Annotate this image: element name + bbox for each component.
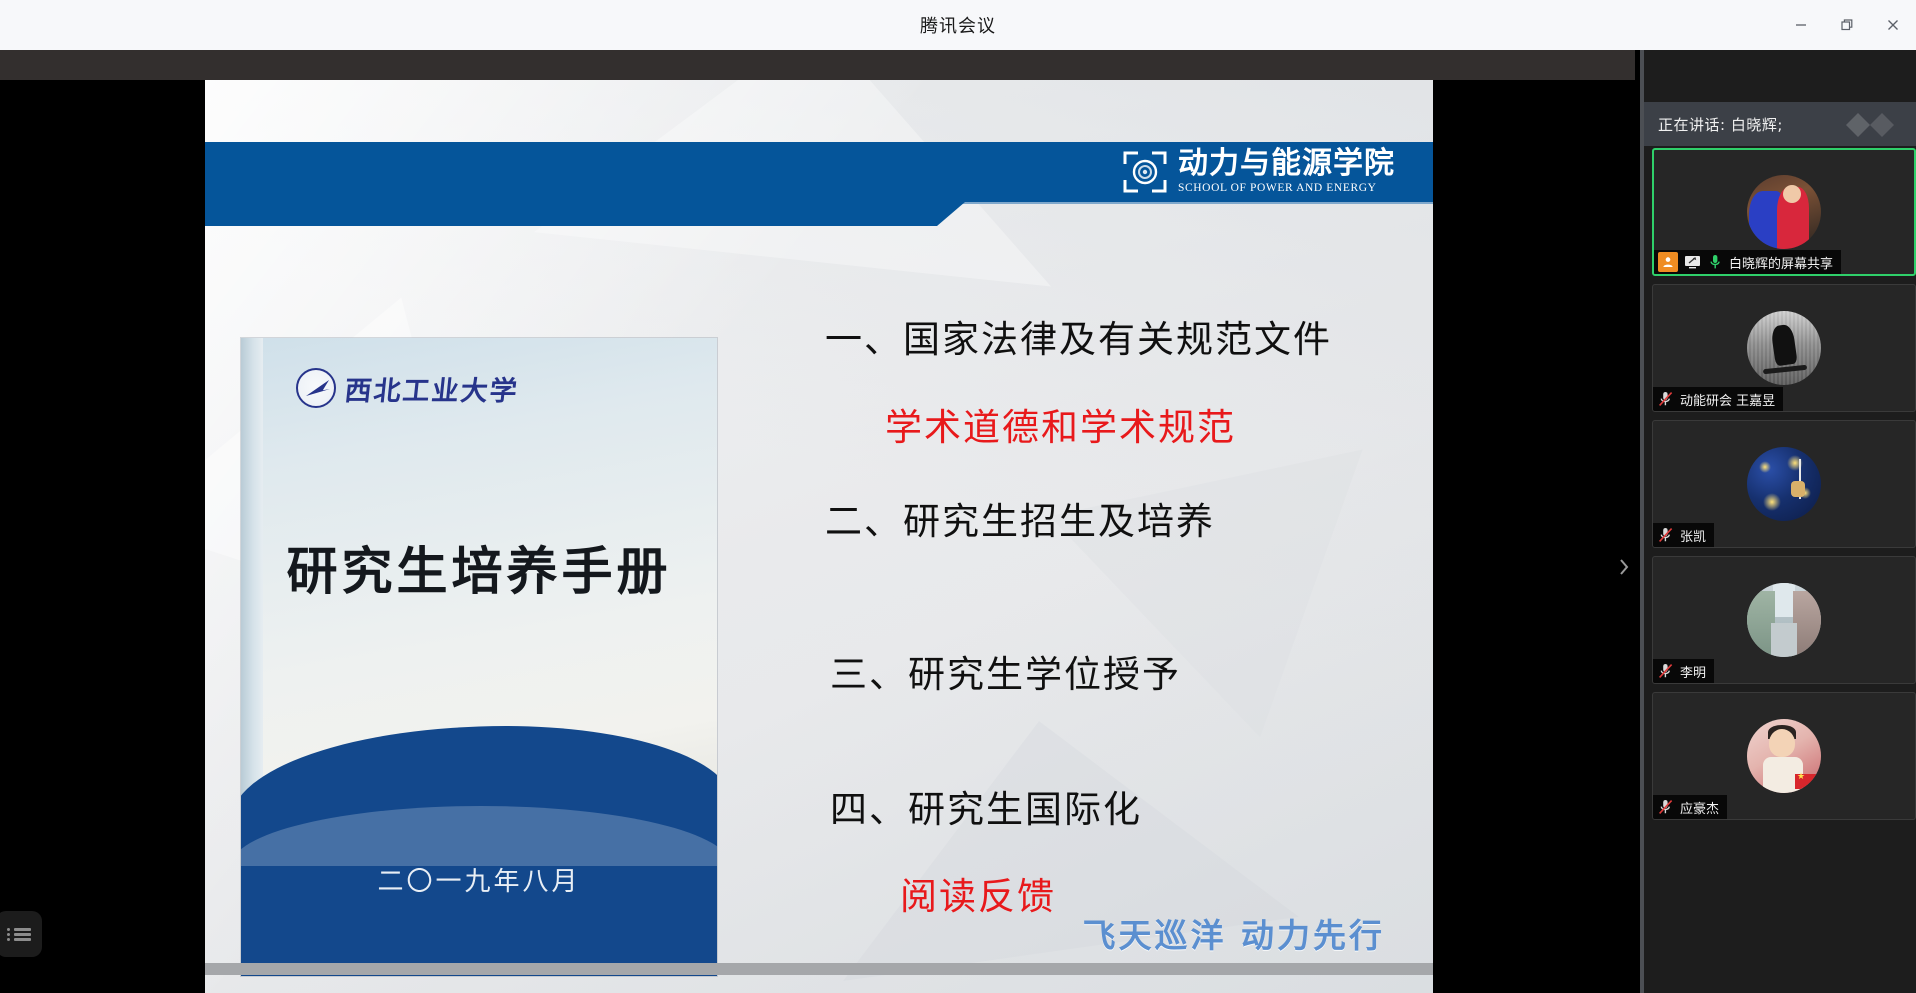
- university-name: 西北工业大学: [343, 369, 521, 408]
- outline-item: 一、国家法律及有关规范文件: [825, 320, 1332, 361]
- avatar: [1747, 175, 1821, 249]
- university-seal-icon: [296, 368, 336, 408]
- participant-label: 白晓辉的屏幕共享: [1654, 250, 1841, 274]
- microphone-muted-icon: [1657, 798, 1675, 816]
- outline-item: 学术道德和学术规范: [885, 408, 1236, 449]
- outline-item: 二、研究生招生及培养: [825, 502, 1215, 543]
- participant-label: 张凯: [1653, 523, 1714, 547]
- restore-button[interactable]: [1824, 0, 1870, 50]
- participants-panel: 正在讲话: 白晓辉;: [1640, 50, 1916, 993]
- presentation-slide: 动力与能源学院 SCHOOL OF POWER AND ENERGY 西北工业大…: [205, 80, 1433, 993]
- microphone-muted-icon: [1657, 390, 1675, 408]
- list-icon: [7, 926, 31, 943]
- microphone-muted-icon: [1657, 526, 1675, 544]
- avatar: [1747, 447, 1821, 521]
- participant-tile[interactable]: 应豪杰: [1652, 692, 1916, 820]
- meeting-window: 腾讯会议: [0, 0, 1916, 993]
- book-title: 研究生培养手册: [241, 530, 717, 604]
- slide-header-notch: [205, 202, 965, 226]
- restore-icon: [1840, 18, 1854, 32]
- avatar: [1747, 311, 1821, 385]
- school-name-en: SCHOOL OF POWER AND ENERGY: [1178, 181, 1395, 196]
- minimize-button[interactable]: [1778, 0, 1824, 50]
- shared-screen-area[interactable]: 动力与能源学院 SCHOOL OF POWER AND ENERGY 西北工业大…: [0, 80, 1635, 993]
- active-speaker-bar: 正在讲话: 白晓辉;: [1644, 102, 1916, 146]
- microphone-muted-icon: [1657, 662, 1675, 680]
- participant-name: 动能研会 王嘉昱: [1680, 390, 1775, 409]
- school-emblem-icon: [1122, 150, 1168, 194]
- participant-tile[interactable]: 动能研会 王嘉昱: [1652, 284, 1916, 412]
- title-bar: 腾讯会议: [0, 0, 1916, 50]
- participant-tile[interactable]: 李明: [1652, 556, 1916, 684]
- slide-slogan: 飞天巡洋 动力先行: [1083, 909, 1386, 957]
- participant-name: 张凯: [1680, 526, 1706, 545]
- participant-tile[interactable]: 白晓辉的屏幕共享: [1652, 148, 1916, 276]
- outline-item: 阅读反馈: [900, 877, 1056, 918]
- participant-name: 应豪杰: [1680, 798, 1719, 817]
- share-top-strip: [0, 50, 1635, 80]
- slide-footer-bar: [205, 963, 1433, 975]
- school-logo: 动力与能源学院 SCHOOL OF POWER AND ENERGY: [1122, 149, 1433, 196]
- host-badge-icon: [1658, 252, 1678, 272]
- outline-item: 四、研究生国际化: [830, 790, 1142, 831]
- participant-label: 李明: [1653, 659, 1714, 683]
- outline-item: 三、研究生学位授予: [830, 655, 1181, 696]
- tencent-meeting-watermark-icon: [1844, 111, 1902, 144]
- school-name-cn: 动力与能源学院: [1178, 149, 1395, 179]
- participant-label: 应豪杰: [1653, 795, 1727, 819]
- participant-label: 动能研会 王嘉昱: [1653, 387, 1783, 411]
- book-date: 二〇一九年八月: [241, 861, 717, 898]
- avatar: [1747, 583, 1821, 657]
- active-speaker-label: 正在讲话: 白晓辉;: [1644, 114, 1783, 135]
- handbook-photo: 西北工业大学 研究生培养手册 二〇一九年八月: [241, 338, 717, 976]
- screen-share-icon: [1683, 253, 1701, 271]
- meeting-stage: 动力与能源学院 SCHOOL OF POWER AND ENERGY 西北工业大…: [0, 50, 1916, 993]
- minimize-icon: [1794, 18, 1808, 32]
- participant-name: 李明: [1680, 662, 1706, 681]
- close-button[interactable]: [1870, 0, 1916, 50]
- close-icon: [1886, 18, 1900, 32]
- participant-tiles: 白晓辉的屏幕共享 动能研会: [1652, 148, 1916, 828]
- collapse-panel-button[interactable]: [1612, 550, 1636, 584]
- participant-tile[interactable]: 张凯: [1652, 420, 1916, 548]
- app-title: 腾讯会议: [920, 12, 996, 38]
- microphone-icon: [1706, 253, 1724, 271]
- participants-list-button[interactable]: [0, 911, 42, 957]
- window-controls: [1778, 0, 1916, 50]
- participant-name: 白晓辉的屏幕共享: [1729, 253, 1833, 272]
- avatar: [1747, 719, 1821, 793]
- slide-header-band: 动力与能源学院 SCHOOL OF POWER AND ENERGY: [205, 142, 1433, 204]
- university-logo: 西北工业大学: [296, 368, 519, 408]
- chevron-right-icon: [1617, 556, 1631, 578]
